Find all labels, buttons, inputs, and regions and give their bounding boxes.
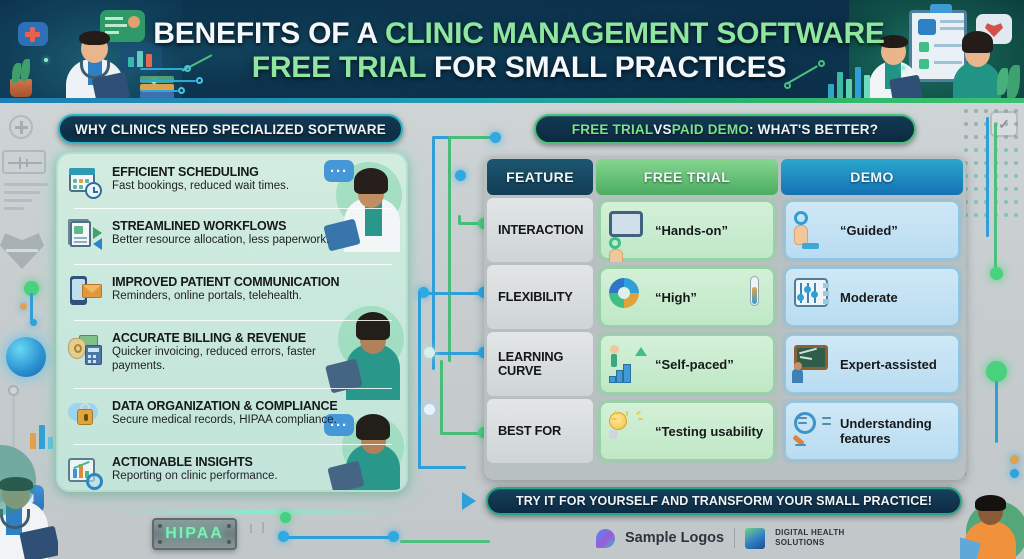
cell-demo-learning-curve[interactable]: Expert-assisted (781, 332, 963, 396)
gears-thermometer-icon (609, 278, 647, 316)
right-pill-part-3: PAID DEMO (672, 122, 749, 137)
magnifier-list-icon (794, 412, 832, 450)
globe-icon (6, 337, 46, 377)
benefit-item-actionable-insights[interactable]: ACTIONABLE INSIGHTS Reporting on clinic … (68, 454, 368, 489)
plant-leaf-icon (21, 59, 30, 81)
thermometer-icon (750, 276, 759, 306)
title-part-3: FREE TRIAL (252, 51, 426, 84)
benefit-title: DATA ORGANIZATION & COMPLIANCE (112, 399, 337, 413)
pointer-hand-icon (794, 211, 832, 249)
footer-logos: Sample Logos DIGITAL HEALTH SOLUTIONS (596, 524, 896, 552)
row-label-learning-curve: LEARNING CURVE (487, 332, 593, 396)
row-label-flexibility: FLEXIBILITY (487, 265, 593, 329)
tick-decor (250, 524, 252, 533)
benefit-item-efficient-scheduling[interactable]: EFFICIENT SCHEDULING Fast bookings, redu… (68, 164, 368, 199)
benefit-title: EFFICIENT SCHEDULING (112, 165, 289, 179)
patient-illustration (960, 491, 1024, 559)
phone-envelope-icon (68, 275, 102, 309)
lightbulb-icon (609, 412, 647, 450)
benefit-desc: Reporting on clinic performance. (112, 470, 278, 484)
cell-text: Moderate (840, 290, 898, 305)
benefit-desc: Secure medical records, HIPAA compliance… (112, 414, 337, 428)
calendar-clock-icon (68, 165, 102, 199)
cell-demo-interaction[interactable]: “Guided” (781, 198, 963, 262)
right-pill-part-2: VS (653, 122, 671, 137)
benefit-desc: Reminders, online portals, telehealth. (112, 290, 339, 304)
digital-health-mark-icon (745, 528, 765, 549)
cell-demo-flexibility[interactable]: Moderate (781, 265, 963, 329)
title-part-4: FOR SMALL PRACTICES (426, 51, 786, 84)
row-label-best-for: BEST FOR (487, 399, 593, 463)
benefit-title: ACCURATE BILLING & REVENUE (112, 331, 368, 345)
circuit-decor-left-icon (140, 58, 230, 98)
infographic-root: BENEFITS OF A CLINIC MANAGEMENT SOFTWARE… (0, 0, 1024, 559)
sample-logos-mark-icon (596, 529, 615, 548)
cell-trial-learning-curve[interactable]: “Self-paced” (596, 332, 778, 396)
hipaa-label: HIPAA (165, 525, 224, 543)
benefit-item-streamlined-workflows[interactable]: STREAMLINED WORKFLOWS Better resource al… (68, 218, 368, 253)
cell-text: “High” (655, 290, 697, 305)
comparison-table: FEATURE FREE TRIAL DEMO INTERACTION “Han… (484, 156, 966, 480)
growth-chart-decor-icon (784, 52, 874, 98)
logo-divider (734, 528, 735, 548)
left-panel-header-label: WHY CLINICS NEED SPECIALIZED SOFTWARE (75, 122, 386, 137)
plus-bubble-icon (18, 22, 48, 46)
cell-text: “Guided” (840, 223, 898, 238)
hipaa-badge: HIPAA (152, 518, 237, 550)
table-row[interactable]: FLEXIBILITY “High” (487, 265, 963, 329)
table-header-feature: FEATURE (487, 159, 593, 195)
glow-bar-decor (110, 510, 410, 514)
cell-trial-flexibility[interactable]: “High” (596, 265, 778, 329)
table-row[interactable]: BEST FOR “Testing usability (487, 399, 963, 463)
title-part-1: BENEFITS OF A (153, 17, 385, 50)
medical-plus-icon (9, 115, 33, 139)
right-pill-part-4: : WHAT'S BETTER? (749, 122, 878, 137)
benefit-desc: Quicker invoicing, reduced errors, faste… (112, 346, 368, 373)
cell-demo-best-for[interactable]: Understanding features (781, 399, 963, 463)
connector-line-decor (285, 536, 395, 539)
table-header-free-trial: FREE TRIAL (596, 159, 778, 195)
benefit-desc: Fast bookings, reduced wait times. (112, 180, 289, 194)
chart-magnifier-icon (68, 455, 102, 489)
benefit-item-data-organization-compliance[interactable]: DATA ORGANIZATION & COMPLIANCE Secure me… (68, 398, 368, 433)
cell-trial-best-for[interactable]: “Testing usability (596, 399, 778, 463)
tick-decor (262, 522, 264, 533)
benefit-item-accurate-billing-revenue[interactable]: ACCURATE BILLING & REVENUE Quicker invoi… (68, 330, 368, 373)
cta-arrow-icon (462, 492, 476, 510)
sample-logos-label: Sample Logos (625, 530, 724, 546)
cell-text: “Self-paced” (655, 357, 734, 372)
cta-label: TRY IT FOR YOURSELF AND TRANSFORM YOUR S… (516, 494, 932, 508)
benefit-title: ACTIONABLE INSIGHTS (112, 455, 278, 469)
cell-text: Expert-assisted (840, 357, 937, 372)
title-part-2: CLINIC MANAGEMENT SOFTWARE (385, 17, 885, 50)
cell-trial-interaction[interactable]: “Hands-on” (596, 198, 778, 262)
benefits-card: ··· ··· (56, 152, 408, 492)
cell-text: “Testing usability (655, 424, 763, 439)
benefit-desc: Better resource allocation, less paperwo… (112, 234, 329, 248)
right-decor-rail: ✓ ✓ ✓ (960, 103, 1024, 559)
table-header-demo: DEMO (781, 159, 963, 195)
tablet-touch-icon (609, 211, 647, 249)
sliders-panel-icon (794, 278, 832, 316)
benefit-title: IMPROVED PATIENT COMMUNICATION (112, 275, 339, 289)
money-calculator-icon (68, 331, 102, 365)
cell-text: “Hands-on” (655, 223, 728, 238)
left-decor-rail (0, 103, 58, 559)
plant-leaf-icon (1007, 65, 1020, 99)
connector-line-decor (400, 540, 490, 543)
table-row[interactable]: LEARNING CURVE “Self-paced” (487, 332, 963, 396)
documents-arrows-icon (68, 219, 102, 253)
header-underline (0, 98, 1024, 103)
heart-ecg-icon (0, 231, 46, 271)
cell-text: Understanding features (840, 416, 950, 446)
page-title: BENEFITS OF A CLINIC MANAGEMENT SOFTWARE… (160, 10, 878, 92)
row-label-interaction: INTERACTION (487, 198, 593, 262)
ecg-monitor-icon (2, 150, 46, 174)
stairs-growth-icon (609, 345, 647, 383)
table-row[interactable]: INTERACTION “Hands-on” “Guided” (487, 198, 963, 262)
header-banner: BENEFITS OF A CLINIC MANAGEMENT SOFTWARE… (0, 0, 1024, 103)
right-panel-header-pill: FREE TRIAL VS PAID DEMO: WHAT'S BETTER? (534, 114, 916, 144)
doctor-illustration (58, 33, 132, 103)
left-panel-header-pill: WHY CLINICS NEED SPECIALIZED SOFTWARE (58, 114, 403, 144)
right-pill-part-1: FREE TRIAL (572, 122, 654, 137)
benefit-item-improved-patient-communication[interactable]: IMPROVED PATIENT COMMUNICATION Reminders… (68, 274, 368, 309)
cta-banner[interactable]: TRY IT FOR YOURSELF AND TRANSFORM YOUR S… (486, 487, 962, 515)
table-header-row: FEATURE FREE TRIAL DEMO (487, 159, 963, 195)
chalkboard-teacher-icon (794, 345, 832, 383)
cloud-lock-icon (68, 399, 102, 433)
benefit-title: STREAMLINED WORKFLOWS (112, 219, 329, 233)
digital-health-label: DIGITAL HEALTH SOLUTIONS (775, 528, 845, 548)
